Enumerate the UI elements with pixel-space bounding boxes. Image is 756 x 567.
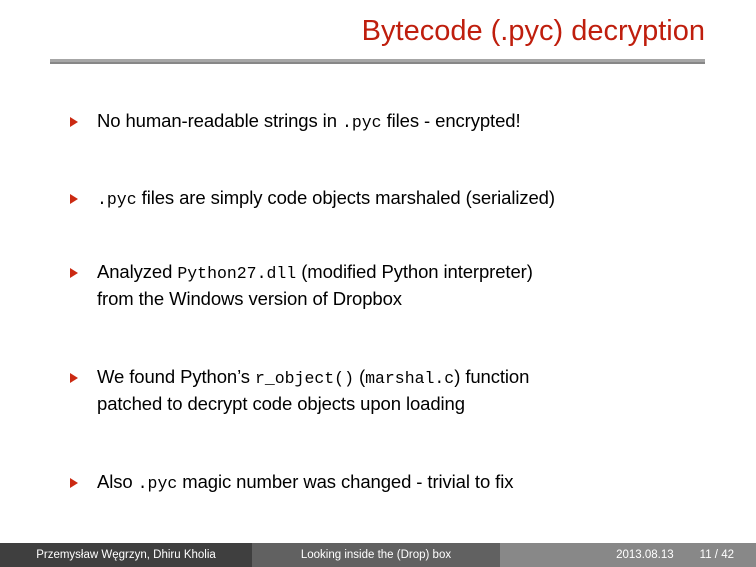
list-item-line: Also .pyc magic number was changed - tri… xyxy=(97,469,710,496)
text-span: Also xyxy=(97,471,138,492)
list-item-line: No human-readable strings in .pyc files … xyxy=(97,108,710,135)
list-item-line: from the Windows version of Dropbox xyxy=(97,286,710,311)
list-item: .pyc files are simply code objects marsh… xyxy=(70,185,710,212)
code-span: Python27.dll xyxy=(177,264,296,283)
footer-talk-title: Looking inside the (Drop) box xyxy=(252,543,500,567)
code-span: r_object() xyxy=(255,369,354,388)
footer-page-number: 11 / 42 xyxy=(700,549,734,561)
text-span: We found Python’s xyxy=(97,366,255,387)
list-item-line: .pyc files are simply code objects marsh… xyxy=(97,185,710,212)
code-span: .pyc xyxy=(342,113,382,132)
page-title: Bytecode (.pyc) decryption xyxy=(50,14,705,48)
list-item: Also .pyc magic number was changed - tri… xyxy=(70,469,710,496)
triangle-right-icon xyxy=(70,373,78,383)
list-item: We found Python’s r_object() (marshal.c)… xyxy=(70,364,710,416)
triangle-right-icon xyxy=(70,268,78,278)
footer-authors: Przemysław Węgrzyn, Dhiru Kholia xyxy=(0,543,252,567)
list-item-text: .pyc files are simply code objects marsh… xyxy=(97,185,710,212)
list-item-text: No human-readable strings in .pyc files … xyxy=(97,108,710,135)
triangle-right-icon xyxy=(70,117,78,127)
bullet-list: No human-readable strings in .pyc files … xyxy=(70,108,710,496)
text-span: from the Windows version of Dropbox xyxy=(97,288,402,309)
slide-footer: Przemysław Węgrzyn, Dhiru Kholia Looking… xyxy=(0,543,756,567)
text-span: Analyzed xyxy=(97,261,177,282)
list-item-line: patched to decrypt code objects upon loa… xyxy=(97,391,710,416)
text-span: files are simply code objects marshaled … xyxy=(137,187,555,208)
text-span: files - encrypted! xyxy=(382,110,521,131)
text-span: ( xyxy=(354,366,365,387)
list-item-line: Analyzed Python27.dll (modified Python i… xyxy=(97,259,710,286)
list-item-line: We found Python’s r_object() (marshal.c)… xyxy=(97,364,710,391)
list-item-text: We found Python’s r_object() (marshal.c)… xyxy=(97,364,710,416)
text-span: No human-readable strings in xyxy=(97,110,342,131)
code-span: .pyc xyxy=(97,190,137,209)
triangle-right-icon xyxy=(70,478,78,488)
triangle-right-icon xyxy=(70,194,78,204)
text-span: (modified Python interpreter) xyxy=(296,261,533,282)
list-item: No human-readable strings in .pyc files … xyxy=(70,108,710,135)
presentation-slide: Bytecode (.pyc) decryption No human-read… xyxy=(0,0,756,567)
list-item: Analyzed Python27.dll (modified Python i… xyxy=(70,259,710,311)
footer-date: 2013.08.13 xyxy=(616,549,674,561)
footer-meta: 2013.08.13 11 / 42 xyxy=(500,543,756,567)
title-divider xyxy=(50,59,705,64)
list-item-text: Also .pyc magic number was changed - tri… xyxy=(97,469,710,496)
code-span: marshal.c xyxy=(365,369,454,388)
text-span: patched to decrypt code objects upon loa… xyxy=(97,393,465,414)
text-span: magic number was changed - trivial to fi… xyxy=(177,471,513,492)
code-span: .pyc xyxy=(138,474,178,493)
list-item-text: Analyzed Python27.dll (modified Python i… xyxy=(97,259,710,311)
text-span: ) function xyxy=(454,366,529,387)
